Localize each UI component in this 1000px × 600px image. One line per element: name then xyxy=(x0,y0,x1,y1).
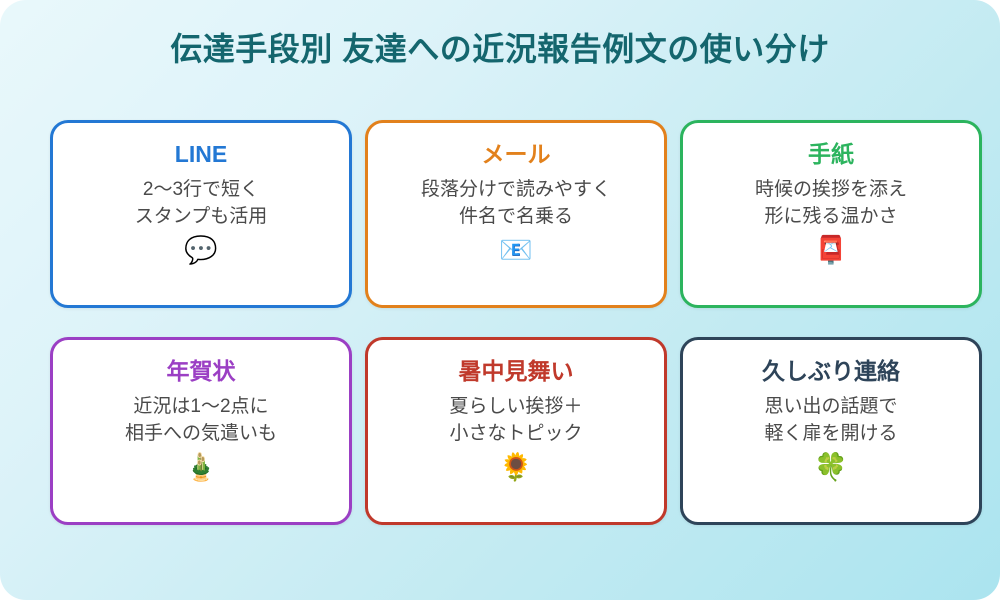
card-description-line: 小さなトピック xyxy=(449,421,582,448)
card-letter: 手紙 時候の挨拶を添え 形に残る温かさ 📮 xyxy=(680,120,982,308)
postbox-icon: 📮 xyxy=(814,237,848,264)
card-description-line: 思い出の話題で xyxy=(764,394,897,421)
card-title: 久しぶり連絡 xyxy=(762,358,900,384)
card-description-line: 近況は1〜2点に xyxy=(125,394,277,421)
card-description-line: 軽く扉を開ける xyxy=(764,421,897,448)
email-envelope-icon: 📧 xyxy=(499,237,533,264)
card-description: 思い出の話題で 軽く扉を開ける xyxy=(764,394,897,448)
card-description-line: 夏らしい挨拶＋ xyxy=(449,394,582,421)
card-description-line: スタンプも活用 xyxy=(135,204,267,231)
card-title: LINE xyxy=(175,141,227,167)
card-description: 夏らしい挨拶＋ 小さなトピック xyxy=(449,394,582,448)
card-line: LINE 2〜3行で短く スタンプも活用 💬 xyxy=(50,120,352,308)
card-grid: LINE 2〜3行で短く スタンプも活用 💬 メール 段落分けで読みやすく 件名… xyxy=(50,120,950,525)
card-description-line: 段落分けで読みやすく xyxy=(421,177,611,204)
infographic-canvas: 伝達手段別 友達への近況報告例文の使い分け LINE 2〜3行で短く スタンプも… xyxy=(0,0,1000,600)
card-description-line: 形に残る温かさ xyxy=(755,204,907,231)
card-description: 段落分けで読みやすく 件名で名乗る xyxy=(421,177,611,231)
card-description: 時候の挨拶を添え 形に残る温かさ xyxy=(755,177,907,231)
card-title: 年賀状 xyxy=(167,358,236,384)
card-shochumimai: 暑中見舞い 夏らしい挨拶＋ 小さなトピック 🌻 xyxy=(365,337,667,525)
card-title: 手紙 xyxy=(808,141,854,167)
card-mail: メール 段落分けで読みやすく 件名で名乗る 📧 xyxy=(365,120,667,308)
card-title: 暑中見舞い xyxy=(459,358,574,384)
four-leaf-clover-icon: 🍀 xyxy=(814,454,848,481)
page-title: 伝達手段別 友達への近況報告例文の使い分け xyxy=(0,30,1000,68)
speech-bubble-icon: 💬 xyxy=(184,237,218,264)
card-description-line: 2〜3行で短く xyxy=(135,177,267,204)
card-title: メール xyxy=(482,141,551,167)
card-description-line: 相手への気遣いも xyxy=(125,421,277,448)
card-description-line: 件名で名乗る xyxy=(421,204,611,231)
kadomatsu-icon: 🎍 xyxy=(184,454,218,481)
card-description-line: 時候の挨拶を添え xyxy=(755,177,907,204)
card-description: 近況は1〜2点に 相手への気遣いも xyxy=(125,394,277,448)
card-hisashiburi: 久しぶり連絡 思い出の話題で 軽く扉を開ける 🍀 xyxy=(680,337,982,525)
card-description: 2〜3行で短く スタンプも活用 xyxy=(135,177,267,231)
card-nengajo: 年賀状 近況は1〜2点に 相手への気遣いも 🎍 xyxy=(50,337,352,525)
sunflower-icon: 🌻 xyxy=(499,454,533,481)
